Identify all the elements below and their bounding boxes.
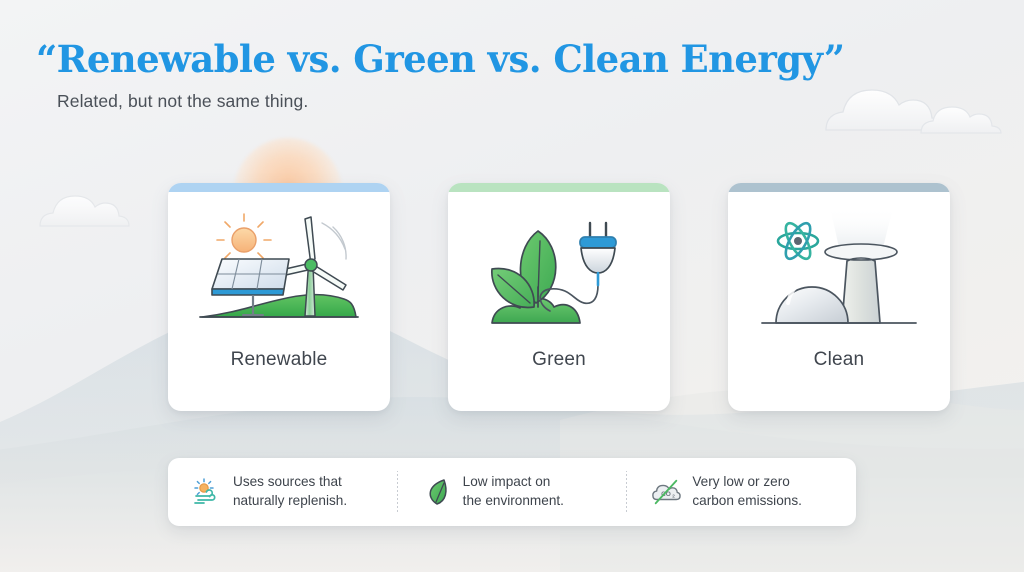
fact-line-1: Very low or zero bbox=[692, 473, 802, 492]
cloud-shape bbox=[921, 107, 1001, 133]
page-title: “Renewable vs. Green vs. Clean Energy” bbox=[36, 40, 844, 79]
fact-line-2: carbon emissions. bbox=[692, 492, 802, 511]
page-subtitle: Related, but not the same thing. bbox=[57, 91, 844, 112]
fact-item-renewable: Uses sources that naturally replenish. bbox=[168, 473, 397, 511]
leaf-icon bbox=[422, 477, 452, 507]
svg-text:2: 2 bbox=[673, 494, 676, 499]
fact-item-clean: CO 2 Very low or zero carbon emissions. bbox=[627, 473, 856, 511]
cloud-shape bbox=[40, 196, 129, 226]
infographic-canvas: “Renewable vs. Green vs. Clean Energy” R… bbox=[0, 0, 1024, 572]
fact-line-1: Uses sources that bbox=[233, 473, 347, 492]
card-renewable[interactable]: Renewable bbox=[168, 183, 390, 411]
nuclear-plant-atom-icon bbox=[754, 207, 924, 343]
card-clean[interactable]: Clean bbox=[728, 183, 950, 411]
solar-panel-wind-turbine-icon bbox=[194, 207, 364, 343]
concept-card-list: Renewable bbox=[168, 183, 950, 411]
key-facts-bar: Uses sources that naturally replenish. bbox=[168, 458, 856, 526]
fact-line-2: naturally replenish. bbox=[233, 492, 347, 511]
fact-item-green: Low impact on the environment. bbox=[398, 473, 627, 511]
card-label: Renewable bbox=[231, 349, 328, 371]
card-topbar bbox=[448, 183, 670, 192]
fact-line-2: the environment. bbox=[463, 492, 564, 511]
sun-wind-icon bbox=[192, 477, 222, 507]
card-label: Green bbox=[532, 349, 586, 371]
fact-text: Uses sources that naturally replenish. bbox=[233, 473, 347, 511]
card-topbar bbox=[168, 183, 390, 192]
header: “Renewable vs. Green vs. Clean Energy” R… bbox=[36, 40, 844, 112]
fact-text: Low impact on the environment. bbox=[463, 473, 564, 511]
card-green[interactable]: Green bbox=[448, 183, 670, 411]
card-label: Clean bbox=[814, 349, 865, 371]
co2-crossed-cloud-icon: CO 2 bbox=[651, 477, 681, 507]
card-topbar bbox=[728, 183, 950, 192]
fact-text: Very low or zero carbon emissions. bbox=[692, 473, 802, 511]
plant-plug-icon bbox=[474, 207, 644, 343]
fact-line-1: Low impact on bbox=[463, 473, 564, 492]
